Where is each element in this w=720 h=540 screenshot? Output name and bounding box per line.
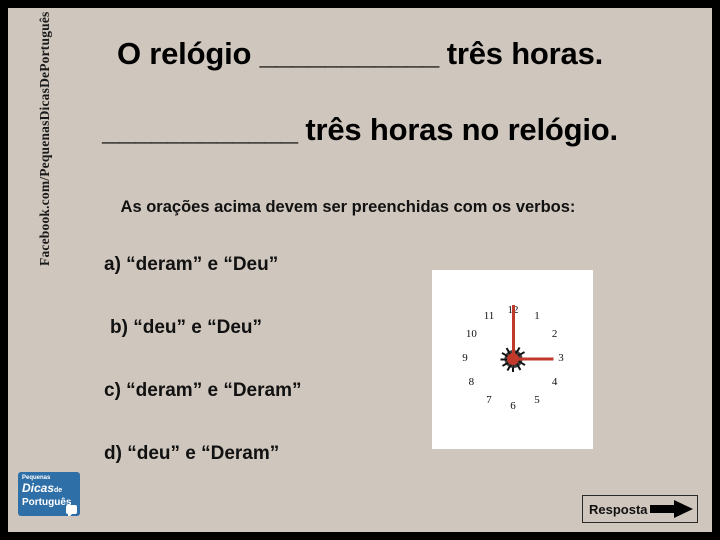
clock-numeral-10: 10 xyxy=(463,329,479,340)
clock-numeral-7: 7 xyxy=(481,395,497,406)
clock-hour-hand xyxy=(513,358,553,361)
slide-canvas: Facebook.com/PequenasDicasDePortuguês O … xyxy=(8,8,712,532)
headline-line-1: O relógio ___________ três horas. xyxy=(8,36,712,72)
logo-line-2: Dicasde xyxy=(22,482,76,497)
clock-numeral-3: 3 xyxy=(553,353,569,364)
answer-options-list: a) “deram” e “Deu” b) “deu” e “Deu” c) “… xyxy=(96,254,426,506)
clock-numeral-1: 1 xyxy=(529,311,545,322)
clock-center-hub xyxy=(507,353,519,365)
clock-minute-hand xyxy=(512,305,515,359)
clock-numeral-8: 8 xyxy=(463,377,479,388)
answer-button[interactable]: Resposta xyxy=(582,495,698,523)
answer-button-label: Resposta xyxy=(583,502,648,517)
headline-1-blank: ___________ xyxy=(260,36,439,71)
headline-2-blank: ____________ xyxy=(102,112,297,147)
option-b[interactable]: b) “deu” e “Deu” xyxy=(96,317,426,339)
headline-1-before: O relógio xyxy=(117,36,260,71)
brand-logo[interactable]: Pequenas Dicasde Português xyxy=(18,472,80,516)
clock-numeral-11: 11 xyxy=(481,311,497,322)
clock-face: 121234567891011 xyxy=(446,292,580,426)
option-c[interactable]: c) “deram” e “Deram” xyxy=(96,380,426,402)
headline-2-after: três horas no relógio. xyxy=(297,112,618,147)
clock-numeral-6: 6 xyxy=(505,401,521,412)
clock-numeral-9: 9 xyxy=(457,353,473,364)
clock-numeral-4: 4 xyxy=(547,377,563,388)
logo-line-2-main: Dicas xyxy=(22,481,54,495)
option-a[interactable]: a) “deram” e “Deu” xyxy=(96,254,426,276)
instruction-text: As orações acima devem ser preenchidas c… xyxy=(8,198,688,217)
headline-1-after: três horas. xyxy=(438,36,603,71)
option-d[interactable]: d) “deu” e “Deram” xyxy=(96,443,426,465)
clock-numeral-2: 2 xyxy=(547,329,563,340)
clock-numeral-5: 5 xyxy=(529,395,545,406)
logo-line-2-small: de xyxy=(54,487,62,494)
arrow-right-icon xyxy=(650,499,694,519)
clock-image: 121234567891011 xyxy=(432,270,593,449)
headline-line-2: ____________ três horas no relógio. xyxy=(8,112,712,148)
screenshot-root: Facebook.com/PequenasDicasDePortuguês O … xyxy=(0,0,720,540)
speech-bubble-icon xyxy=(66,505,77,514)
